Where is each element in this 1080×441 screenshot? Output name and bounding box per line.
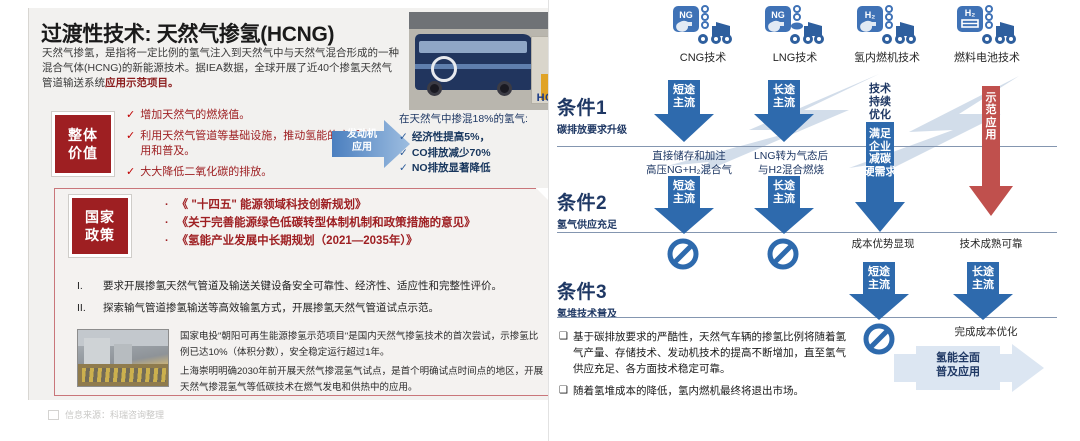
tech-label: CNG技术 — [653, 49, 753, 65]
row1-desc-long: LNG转为气态后 与H2混合燃烧 — [737, 150, 845, 177]
condition-1: 条件1 碳排放要求升级 — [557, 93, 627, 136]
svg-text:NG: NG — [679, 10, 693, 20]
arrow-label-line1: 短途 — [654, 84, 714, 97]
arrow-label-line1: 长途 — [953, 266, 1013, 279]
tech-column-fuel-cell: H₂ 燃料电池技术 — [937, 4, 1037, 65]
list-item: ❑ 基于碳排放要求的严酷性，天然气车辆的掺氢比例将随着氢气产量、存储技术、发动机… — [559, 330, 854, 377]
check-icon: ✓ — [126, 129, 135, 159]
source-note: 信息来源：科瑞咨询整理 — [48, 408, 164, 421]
tech-note-line3: 优化 — [854, 109, 906, 122]
condition-title: 条件3 — [557, 277, 617, 304]
row3-blocked-short-icon — [863, 323, 895, 360]
arrow-label: 短途 主流 — [654, 180, 714, 205]
no-entry-icon — [863, 323, 895, 355]
photo-bus-logo — [431, 56, 457, 82]
policy-doc-list: ·《 "十四五" 能源领域科技创新规划》 ·《关于完善能源绿色低碳转型体制机制和… — [165, 197, 550, 250]
checkbox-icon: ❑ — [559, 384, 568, 400]
case-paragraph: 国家电投"朝阳可再生能源掺氢示范项目"是国内天然气掺氢技术的首次尝试，示掺氢比例… — [180, 329, 545, 360]
policy-tag-line1: 国家 — [85, 208, 115, 226]
arrow-label-line1: 长途 — [754, 180, 814, 193]
engine-arrow-line1: 发动机 — [338, 129, 386, 142]
row2-tech-mature-text: 技术成熟可靠 — [943, 236, 1039, 251]
engine-arrow-label: 发动机 应用 — [338, 129, 386, 154]
intro-text-a: 天然气掺氢，是指将一定比例的氢气注入到天然气中与天然气混合形成的一种混合气体(H… — [42, 47, 399, 89]
red-arrow-char: 示 — [983, 92, 999, 104]
arrow-label-line2: 主流 — [754, 193, 814, 206]
svg-text:H₂: H₂ — [865, 10, 876, 20]
photo-bus-wheel — [427, 81, 442, 96]
arrow-label-line1: 短途 — [849, 266, 909, 279]
row1-arrow-short-haul: 短途 主流 — [654, 80, 714, 142]
demo-application-red-arrow: 示 范 应 用 — [969, 86, 1013, 216]
svg-text:NG: NG — [771, 10, 785, 20]
row2-blocked-short-icon — [667, 238, 699, 275]
national-policy-tag: 国家 政策 — [69, 195, 131, 257]
svg-text:H₂: H₂ — [965, 8, 976, 18]
row2-arrow-short-haul: 短途 主流 — [654, 176, 714, 234]
final-cost-optimized-text: 完成成本优化 — [931, 324, 1041, 339]
final-badge-label: 氢能全面 普及应用 — [910, 352, 1006, 380]
list-item: ·《关于完善能源绿色低碳转型体制机制和政策措施的意见》 — [165, 215, 550, 233]
case-paragraph: 上海崇明明确2030年前开展天然气掺混氢气试点，是首个明确试点时间点的地区，开展… — [180, 364, 545, 395]
h2-fuelcell-truck-icon: H₂ — [956, 4, 1018, 48]
roman-number: II. — [77, 301, 91, 315]
ng-engine-truck-icon: NG — [672, 4, 734, 48]
check-icon: ✓ — [126, 165, 135, 180]
condition-subtitle: 氢气供应充足 — [557, 216, 617, 231]
policy-doc-text: 《氢能产业发展中长期规划（2021—2035年）》 — [177, 233, 418, 251]
policy-requirement-list: I. 要求开展掺氢天然气管道及输送关键设备安全可靠性、经济性、适应性和完整性评价… — [77, 279, 547, 323]
list-item: ·《 "十四五" 能源领域科技创新规划》 — [165, 197, 550, 215]
value-point-text: 增加天然气的燃烧值。 — [140, 108, 250, 123]
overall-value-line1: 整体 — [68, 126, 98, 144]
condition-3: 条件3 氢堆技术普及 — [557, 277, 617, 320]
overall-value-tag: 整体 价值 — [52, 112, 114, 176]
no-entry-icon — [667, 238, 699, 270]
arrow-label-line2: 主流 — [654, 97, 714, 110]
list-item: I. 要求开展掺氢天然气管道及输送关键设备安全可靠性、经济性、适应性和完整性评价… — [77, 279, 547, 293]
policy-doc-text: 《 "十四五" 能源领域科技创新规划》 — [177, 197, 367, 215]
arrow-label-line1: 短途 — [654, 180, 714, 193]
case-study-text: 国家电投"朝阳可再生能源掺氢示范项目"是国内天然气掺氢技术的首次尝试，示掺氢比例… — [180, 329, 545, 400]
roadmap-diagram: NG CNG技术 NG — [549, 0, 1069, 441]
desc-line1: 直接储存和加注 — [634, 150, 744, 164]
enterprise-demand-arrow: 满足 企业 减碳 硬需求 — [855, 122, 905, 232]
page-title: 过渡性技术: 天然气掺氢(HCNG) — [41, 18, 334, 48]
callout-point: NO排放显著降低 — [412, 161, 491, 177]
slide-root: 过渡性技术: 天然气掺氢(HCNG) 天然气掺氢，是指将一定比例的氢气注入到天然… — [0, 0, 1080, 441]
list-item: ✓CO排放减少70% — [399, 146, 549, 162]
row1-arrow-long-haul: 长途 主流 — [754, 80, 814, 142]
tech-label: 氢内燃机技术 — [837, 49, 937, 65]
arrow-label-line3: 减碳 — [855, 153, 905, 166]
note-text: 基于碳排放要求的严酷性，天然气车辆的掺氢比例将随着氢气产量、存储技术、发动机技术… — [573, 330, 854, 377]
arrow-label: 短途 主流 — [654, 84, 714, 109]
row3-arrow-long-haul: 长途 主流 — [953, 262, 1013, 320]
source-text: 信息来源：科瑞咨询整理 — [65, 408, 164, 421]
callout-point: CO排放减少70% — [412, 146, 491, 162]
tech-note-line1: 技术 — [854, 83, 906, 96]
arrow-label: 长途 主流 — [953, 266, 1013, 291]
value-point-text: 大大降低二氧化碳的排放。 — [140, 165, 272, 180]
list-item: ·《氢能产业发展中长期规划（2021—2035年）》 — [165, 233, 550, 251]
bullet-dot-icon: · — [165, 233, 169, 251]
callout-point: 经济性提高5%， — [412, 130, 490, 146]
engine-arrow-line2: 应用 — [338, 142, 386, 155]
final-badge-line1: 氢能全面 — [910, 352, 1006, 366]
roman-number: I. — [77, 279, 91, 293]
roman-text: 要求开展掺氢天然气管道及输送关键设备安全可靠性、经济性、适应性和完整性评价。 — [103, 279, 502, 293]
callout-header: 在天然气中掺混18%的氢气: — [399, 112, 549, 128]
intro-text-highlight: 应用示范项目。 — [105, 77, 179, 89]
intro-paragraph: 天然气掺氢，是指将一定比例的氢气注入到天然气中与天然气混合形成的一种混合气体(H… — [42, 46, 402, 92]
arrow-label-line1: 长途 — [754, 84, 814, 97]
arrow-label-line4: 硬需求 — [855, 166, 905, 179]
tech-column-h2-ice: H₂ 氢内燃机技术 — [837, 4, 937, 65]
red-arrow-char: 范 — [983, 104, 999, 116]
photo-bus-wheel — [497, 81, 512, 96]
overall-value-line2: 价值 — [68, 144, 98, 162]
arrow-label-line2: 主流 — [849, 279, 909, 292]
arrow-label-line2: 主流 — [754, 97, 814, 110]
row2-cost-advantage-text: 成本优势显现 — [837, 236, 929, 251]
row1-tech-optimization-note: 技术 持续 优化 — [854, 83, 906, 123]
h2-engine-truck-icon: H₂ — [856, 4, 918, 48]
arrow-label-line2: 主流 — [654, 193, 714, 206]
check-icon: ✓ — [399, 161, 408, 177]
condition-subtitle: 碳排放要求升级 — [557, 121, 627, 136]
red-arrow-label: 示 范 应 用 — [983, 92, 999, 141]
policy-tag-line2: 政策 — [85, 226, 115, 244]
red-arrow-char: 应 — [983, 117, 999, 129]
final-badge-line2: 普及应用 — [910, 366, 1006, 380]
no-entry-icon — [767, 238, 799, 270]
arrow-label-line2: 主流 — [953, 279, 1013, 292]
final-hydrogen-adoption-banner: 氢能全面 普及应用 — [894, 344, 1069, 392]
bullet-dot-icon: · — [165, 197, 169, 215]
condition-title: 条件1 — [557, 93, 627, 120]
roman-text: 探索输气管道掺氢输送等高效输氢方式，开展掺氢天然气管道试点示范。 — [103, 301, 439, 315]
demo-project-photo — [77, 329, 169, 387]
tech-column-cng: NG CNG技术 — [653, 4, 753, 65]
ng-lng-truck-icon: NG — [764, 4, 826, 48]
tech-column-lng: NG LNG技术 — [745, 4, 845, 65]
left-panel: 过渡性技术: 天然气掺氢(HCNG) 天然气掺氢，是指将一定比例的氢气注入到天然… — [28, 8, 548, 400]
arrow-label: 短途 主流 — [849, 266, 909, 291]
note-text: 随着氢堆成本的降低，氢内燃机最终将退出市场。 — [573, 384, 804, 400]
condition-2: 条件2 氢气供应充足 — [557, 188, 617, 231]
tech-note-line2: 持续 — [854, 96, 906, 109]
row1-desc-short: 直接储存和加注 高压NG+H₂混合气 — [634, 150, 744, 177]
tech-label: 燃料电池技术 — [937, 49, 1037, 65]
arrow-label: 满足 企业 减碳 硬需求 — [855, 128, 905, 179]
row2-arrow-long-haul: 长途 主流 — [754, 176, 814, 234]
arrow-label: 长途 主流 — [754, 84, 814, 109]
condition3-notes: ❑ 基于碳排放要求的严酷性，天然气车辆的掺氢比例将随着氢气产量、存储技术、发动机… — [559, 330, 854, 407]
arrow-label-line1: 满足 — [855, 128, 905, 141]
desc-line1: LNG转为气态后 — [737, 150, 845, 164]
row3-arrow-short-haul: 短途 主流 — [849, 262, 909, 320]
bullet-dot-icon: · — [165, 215, 169, 233]
policy-doc-text: 《关于完善能源绿色低碳转型体制机制和政策措施的意见》 — [177, 215, 476, 233]
list-item: ✓经济性提高5%， — [399, 130, 549, 146]
checkbox-icon: ❑ — [559, 330, 568, 377]
tech-label: LNG技术 — [745, 49, 845, 65]
condition-title: 条件2 — [557, 188, 617, 215]
arrow-label-line2: 企业 — [855, 141, 905, 154]
arrow-label: 长途 主流 — [754, 180, 814, 205]
hydrogen-blend-callout: 在天然气中掺混18%的氢气: ✓经济性提高5%， ✓CO排放减少70% ✓NO排… — [399, 112, 549, 177]
callout-list: ✓经济性提高5%， ✓CO排放减少70% ✓NO排放显著降低 — [399, 130, 549, 177]
row2-blocked-long-icon — [767, 238, 799, 275]
photo-solar-panels — [82, 368, 166, 382]
check-icon: ✓ — [399, 146, 408, 162]
list-item: ❑ 随着氢堆成本的降低，氢内燃机最终将退出市场。 — [559, 384, 854, 400]
check-icon: ✓ — [126, 108, 135, 123]
right-panel: NG CNG技术 NG — [548, 0, 1080, 441]
red-arrow-char: 用 — [983, 129, 999, 141]
document-icon — [48, 410, 59, 420]
check-icon: ✓ — [399, 130, 408, 146]
list-item: ✓NO排放显著降低 — [399, 161, 549, 177]
list-item: II. 探索输气管道掺氢输送等高效输氢方式，开展掺氢天然气管道试点示范。 — [77, 301, 547, 315]
